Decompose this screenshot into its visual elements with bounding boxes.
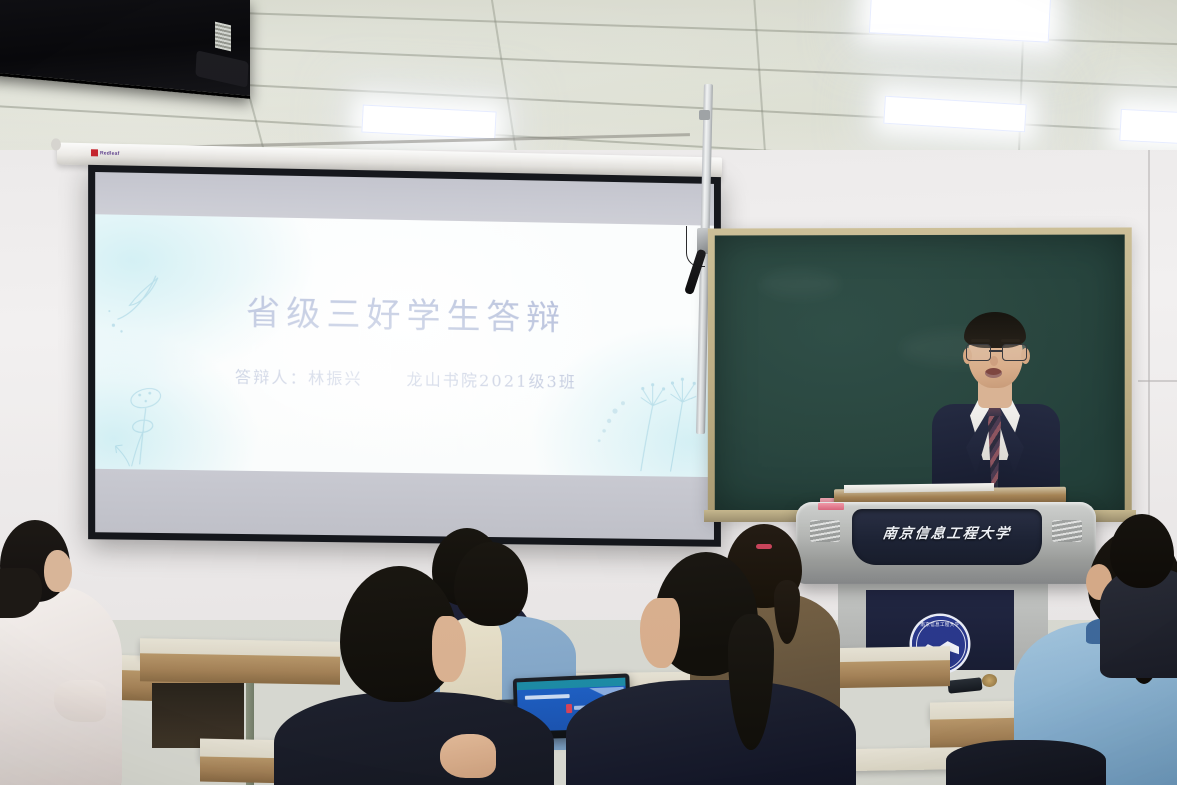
phone-icon[interactable] [947,677,982,693]
audience-arm [54,680,106,722]
laptop-screen-marker [566,704,572,713]
audience-member [0,508,132,785]
audience-face [640,598,680,668]
podium-label-tag [818,503,844,510]
glasses-lens [1002,344,1027,361]
university-name-label: 南京信息工程大学 [851,523,1044,543]
keys-icon[interactable] [981,673,997,687]
audience-body [566,680,856,785]
audience-body [946,740,1106,785]
audience-member [598,552,828,785]
chalkboard [708,227,1132,518]
audience-member [300,566,520,785]
chalk-smudge [760,270,840,298]
presenter-eyebrow [1001,339,1020,342]
presenter-mouth [985,368,1002,378]
microphone-pole-collar [699,110,710,120]
wall-seam [1138,380,1177,382]
slide-title: 省级三好学生答辩 [95,283,714,342]
presenter-eyebrow [971,339,990,342]
projection-screen[interactable]: 省级三好学生答辩 答辩人：林振兴 龙山书院2021级3班 [88,165,721,547]
audience-hand [440,734,496,778]
presentation-slide: 省级三好学生答辩 答辩人：林振兴 龙山书院2021级3班 [95,214,714,477]
classroom-scene: Redleaf [0,0,1177,785]
brand-mark-icon [91,149,98,156]
presenter-hair [964,312,1026,348]
glasses-lens [966,344,991,361]
brand-name-label: Redleaf [100,150,119,156]
audience-hair [1110,514,1174,588]
laptop-screen-text [525,694,570,700]
podium-front-panel: 南京信息工程大学 [852,509,1042,565]
vent-icon [215,22,231,52]
hair-tie-icon [756,544,772,549]
audience-face [44,550,72,592]
presenter-nose [990,356,998,366]
roller-brand-logo: Redleaf [91,149,119,157]
audience-body [274,692,554,785]
audience-face [432,616,466,682]
audience-member [946,740,1096,785]
roller-endcap [51,138,61,150]
audience-member [1100,520,1177,640]
screen-surface: 省级三好学生答辩 答辩人：林振兴 龙山书院2021级3班 [95,172,714,540]
glasses-bridge [989,350,1002,352]
crest-text: 南京信息工程大学 [912,622,968,628]
